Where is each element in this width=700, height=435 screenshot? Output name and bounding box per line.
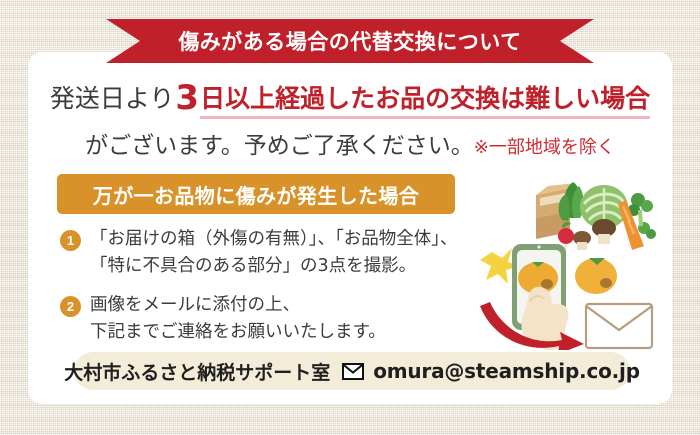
mushroom-icon bbox=[573, 219, 616, 250]
notice-line-1-emphasis: 日以上経過したお品の交換は難しい場合 bbox=[200, 84, 650, 119]
page-title: 傷みがある場合の代替交換について bbox=[178, 26, 521, 56]
list-item: 1 「お届けの箱（外傷の有無）」、「お品物全体」、 「特に不具合のある部分」の3… bbox=[60, 226, 490, 280]
banner-root: 発送日より3日以上経過したお品の交換は難しい場合 がございます。予めご了承くださ… bbox=[0, 0, 700, 435]
content-card: 発送日より3日以上経過したお品の交換は難しい場合 がございます。予めご了承くださ… bbox=[28, 52, 672, 404]
step-text-line: 画像をメールに添付の上、 bbox=[90, 292, 386, 319]
step-text-line: 下記までご連絡をお願いいたします。 bbox=[90, 319, 386, 346]
notice-line-2-note: ※一部地域を除く bbox=[474, 137, 615, 158]
persimmon-icon bbox=[575, 258, 617, 294]
section-banner: 万が一お品物に傷みが発生した場合 bbox=[57, 174, 455, 214]
notice-days-number: 3 bbox=[174, 78, 200, 118]
step-text: 「お届けの箱（外傷の有無）」、「お品物全体」、 「特に不具合のある部分」の3点を… bbox=[90, 226, 458, 280]
notice-line-1: 発送日より3日以上経過したお品の交換は難しい場合 bbox=[28, 78, 672, 118]
notice-line-2-normal: がございます。予めご了承ください。 bbox=[85, 133, 474, 159]
header-ribbon: 傷みがある場合の代替交換について bbox=[106, 19, 594, 63]
step-number-badge: 2 bbox=[60, 296, 81, 317]
section-banner-label: 万が一お品物に傷みが発生した場合 bbox=[93, 180, 419, 209]
steps-list: 1 「お届けの箱（外傷の有無）」、「お品物全体」、 「特に不具合のある部分」の3… bbox=[60, 226, 490, 359]
list-item: 2 画像をメールに添付の上、 下記までご連絡をお願いいたします。 bbox=[60, 292, 490, 346]
notice-line-2: がございます。予めご了承ください。※一部地域を除く bbox=[28, 126, 672, 160]
step-number-badge: 1 bbox=[60, 230, 81, 251]
support-email[interactable]: omura@steamship.co.jp bbox=[373, 359, 640, 383]
support-office-label: 大村市ふるさと納税サポート室 bbox=[64, 358, 330, 385]
step-text: 画像をメールに添付の上、 下記までご連絡をお願いいたします。 bbox=[90, 292, 386, 346]
notice-line-1-prefix: 発送日より bbox=[50, 84, 175, 113]
contact-bar: 大村市ふるさと納税サポート室 omura@steamship.co.jp bbox=[74, 352, 630, 390]
step-text-line: 「特に不具合のある部分」の3点を撮影。 bbox=[90, 253, 458, 280]
envelope-icon bbox=[342, 363, 364, 380]
step-text-line: 「お届けの箱（外傷の有無）」、「お品物全体」、 bbox=[90, 226, 458, 253]
photo-and-mail-illustration bbox=[458, 170, 668, 350]
envelope-icon bbox=[586, 304, 652, 348]
